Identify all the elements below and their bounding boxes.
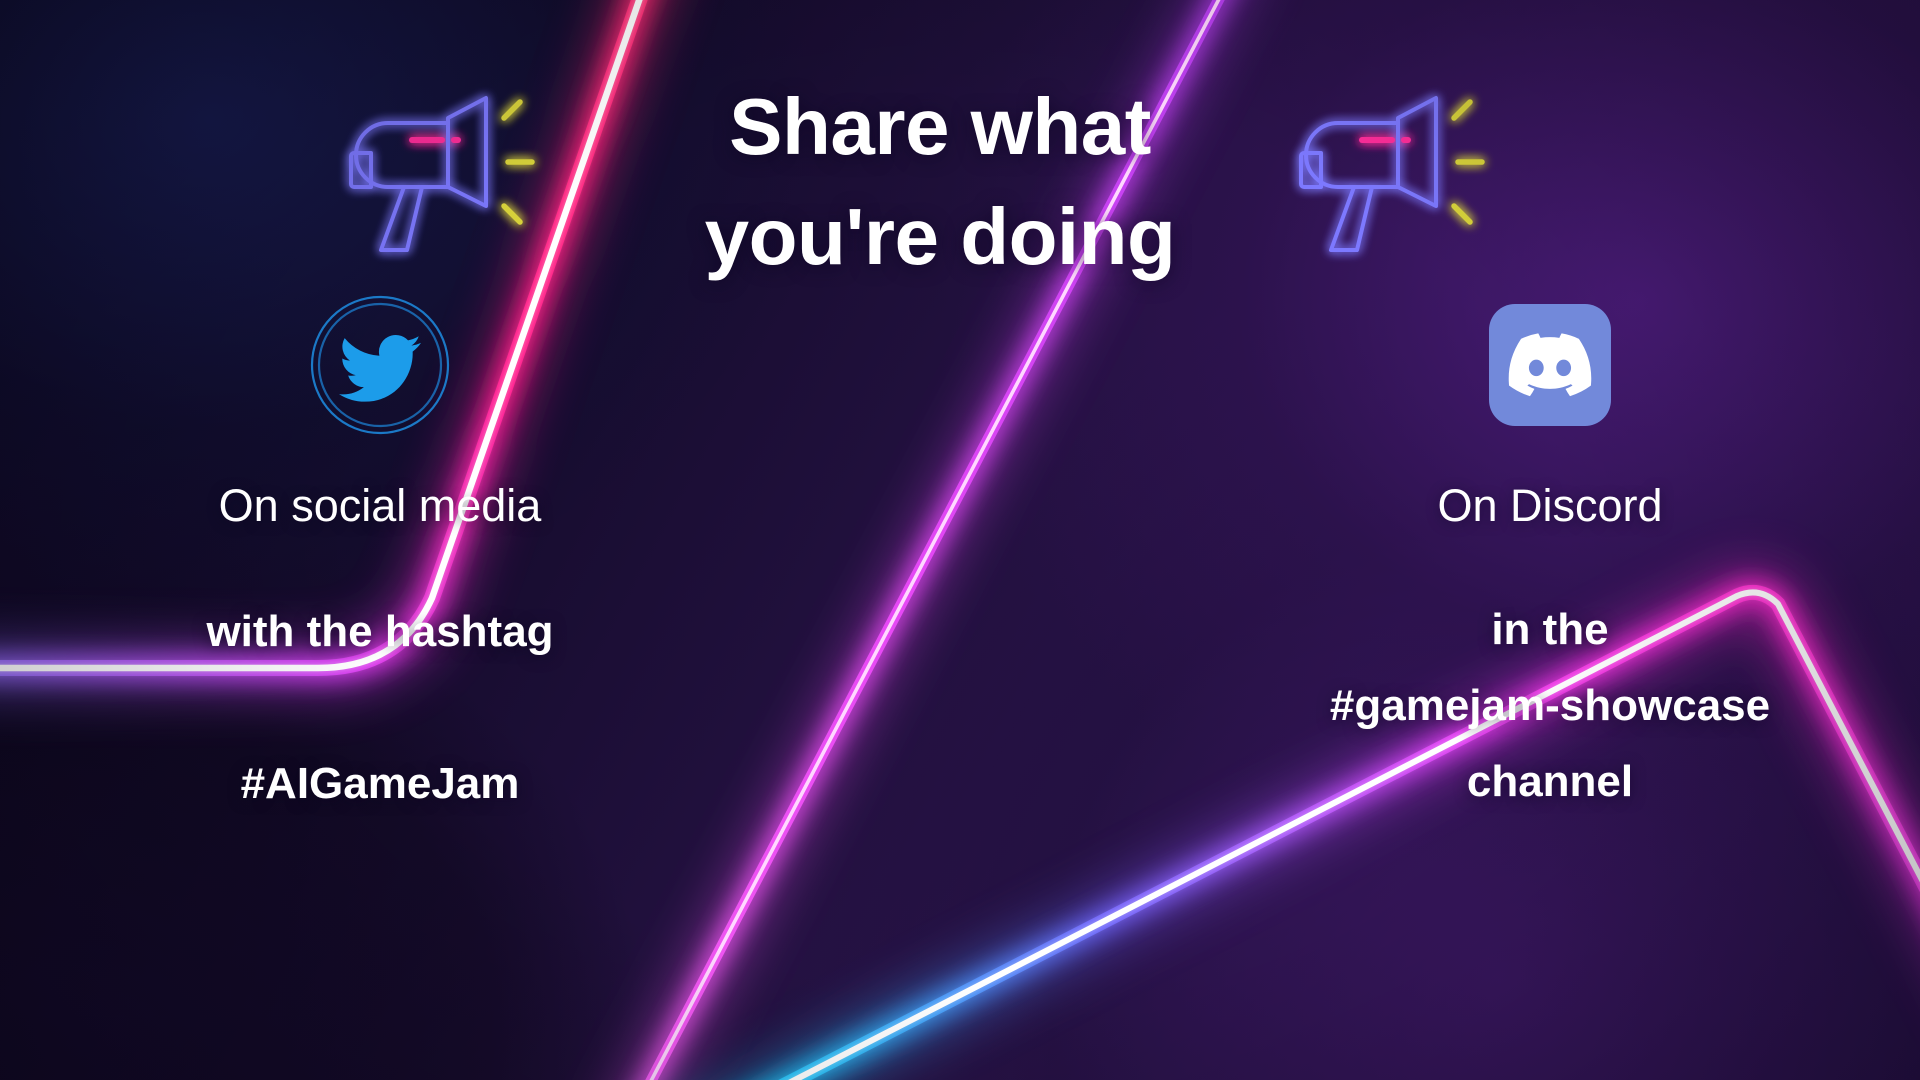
twitter-icon[interactable] bbox=[307, 292, 453, 438]
discord-headline: On Discord bbox=[1240, 478, 1860, 534]
discord-tile[interactable] bbox=[1489, 304, 1611, 426]
social-headline: On social media bbox=[70, 478, 690, 534]
column-social-media: On social media with the hashtag #AIGame… bbox=[70, 290, 690, 821]
slide-canvas: Share what you're doing On social media … bbox=[0, 0, 1920, 1080]
twitter-icon-wrap bbox=[70, 290, 690, 440]
slide-title: Share what you're doing bbox=[620, 72, 1260, 293]
discord-icon-wrap bbox=[1240, 290, 1860, 440]
social-detail: with the hashtag #AIGameJam bbox=[70, 594, 690, 821]
discord-detail: in the #gamejam-showcase channel bbox=[1240, 592, 1860, 819]
megaphone-icon-left bbox=[351, 98, 532, 250]
discord-icon bbox=[1508, 333, 1592, 397]
column-discord: On Discord in the #gamejam-showcase chan… bbox=[1240, 290, 1860, 819]
megaphone-icon-right bbox=[1301, 98, 1482, 250]
